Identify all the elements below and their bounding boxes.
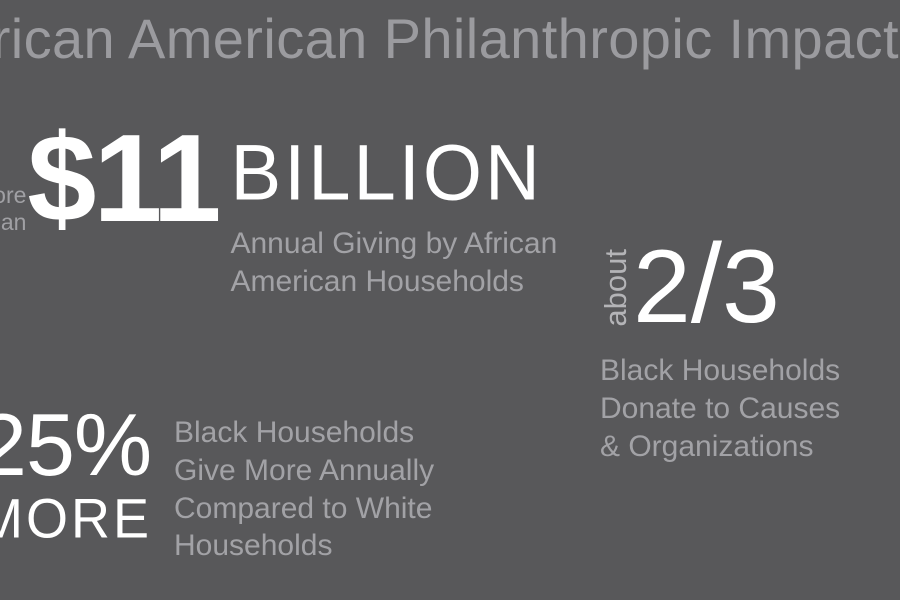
billion-headline-row: more than $11 BILLION Annual Giving by A… [0,128,614,301]
infographic-canvas: African American Philanthropic Impact mo… [0,0,900,600]
percent-caption-line4: Households [174,527,434,565]
two-thirds-qualifier: about [600,249,631,327]
percent-headline-row: 25% MORE Black Households Give More Annu… [0,404,598,565]
percent-caption-line3: Compared to White [174,490,434,528]
percent-caption-line1: Black Households [174,414,434,452]
billion-caption-line2: American Households [230,263,557,301]
billion-unit-label: BILLION [230,136,557,212]
percent-value: 25% [0,404,174,487]
billion-amount: $11 [27,122,218,236]
two-thirds-fraction: 2 / 3 [633,236,779,332]
two-thirds-caption: Black Households Donate to Causes & Orga… [600,352,900,465]
billion-qualifier: more than [0,128,27,236]
billion-caption-line1: Annual Giving by African [230,225,557,263]
billion-caption: Annual Giving by African American Househ… [230,225,557,301]
billion-qualifier-line2: than [0,209,26,236]
percent-caption: Black Households Give More Annually Comp… [174,404,434,565]
fraction-slash-icon: / [690,236,722,332]
stat-block-annual-giving: more than $11 BILLION Annual Giving by A… [0,128,614,301]
percent-unit-label: MORE [0,491,174,548]
percent-caption-line2: Give More Annually [174,452,434,490]
two-thirds-numerator: 2 [633,243,690,332]
two-thirds-caption-line1: Black Households [600,352,900,390]
two-thirds-denominator: 3 [722,243,779,332]
stat-block-giving-gap: 25% MORE Black Households Give More Annu… [0,404,598,565]
two-thirds-caption-line2: Donate to Causes [600,390,900,428]
page-title: African American Philanthropic Impact [0,8,899,70]
stat-block-donation-share: about 2 / 3 Black Households Donate to C… [600,236,900,466]
billion-unit-and-caption: BILLION Annual Giving by African America… [218,128,557,301]
two-thirds-caption-line3: & Organizations [600,428,900,466]
two-thirds-headline-row: about 2 / 3 [600,236,900,332]
billion-qualifier-line1: more [0,182,26,209]
percent-figure-group: 25% MORE [0,404,174,546]
